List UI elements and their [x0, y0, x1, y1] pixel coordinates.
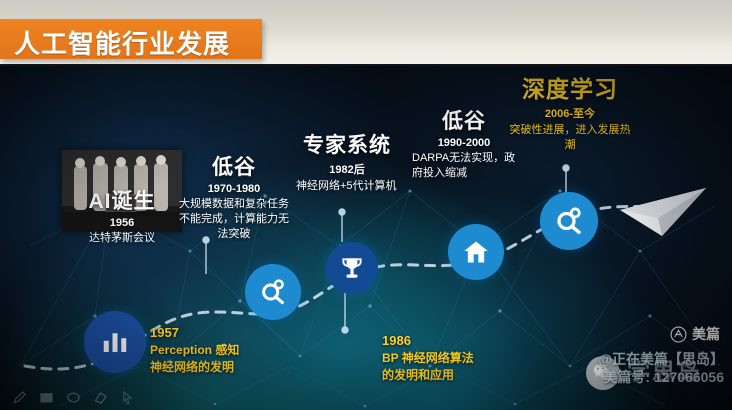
slide-title-banner: 人工智能行业发展 — [0, 19, 262, 59]
watermark-credit: @正在美篇【思岛】 美篇号: 127066056 — [598, 351, 724, 386]
annotation-toolbar[interactable] — [0, 384, 212, 410]
watermark-handle: @正在美篇【思岛】 — [598, 351, 724, 369]
trophy-icon — [339, 255, 365, 281]
ellipse-icon[interactable] — [66, 390, 81, 405]
watermark-account: 美篇号: 127066056 — [598, 369, 724, 387]
node-trophy[interactable] — [326, 242, 378, 294]
paper-plane-icon — [618, 184, 714, 246]
node-home[interactable] — [448, 224, 504, 280]
node-search-gear-1[interactable] — [245, 264, 301, 320]
page-title: 人工智能行业发展 — [14, 24, 230, 61]
pen-icon[interactable] — [12, 390, 27, 405]
tag-line1: Perception 感知 — [150, 342, 239, 359]
meipian-logo-icon — [670, 326, 687, 343]
milestone-year: 1970-1980 — [178, 183, 290, 195]
milestone-desc: 突破性进展，进入发展热潮 — [508, 123, 632, 153]
milestone-heading: AI诞生 — [60, 190, 184, 214]
milestone-heading: 低谷 — [412, 110, 516, 134]
node-bar-chart[interactable] — [84, 311, 146, 373]
tag-bp-1986: 1986 BP 神经网络算法 的发明和应用 — [382, 332, 474, 384]
tag-perception-1957: 1957 Perception 感知 神经网络的发明 — [150, 324, 239, 376]
rectangle-icon[interactable] — [39, 390, 54, 405]
pointer-icon[interactable] — [120, 390, 135, 405]
milestone-desc: 大规模数据和复杂任务不能完成，计算能力无法突破 — [178, 197, 290, 242]
milestone-year: 1982后 — [288, 161, 406, 177]
milestone-second-winter: 低谷 1990-2000 DARPA无法实现，政府投入缩减 — [412, 110, 516, 181]
milestone-heading: 低谷 — [178, 156, 290, 180]
tag-line1: BP 神经网络算法 — [382, 350, 474, 367]
milestone-desc: DARPA无法实现，政府投入缩减 — [412, 151, 516, 181]
search-gear-icon — [259, 278, 287, 306]
milestone-ai-birth: AI诞生 1956 达特茅斯会议 — [60, 190, 184, 246]
meipian-brand-label: 美篇 — [692, 324, 720, 344]
milestone-year: 2006-至今 — [508, 105, 632, 121]
milestone-deep-learning: 深度学习 2006-至今 突破性进展，进入发展热潮 — [508, 76, 632, 153]
slide-canvas: 人工智能行业发展 — [0, 0, 732, 410]
bar-chart-icon — [100, 327, 130, 357]
tag-line2: 的发明和应用 — [382, 367, 474, 384]
tag-line2: 神经网络的发明 — [150, 359, 239, 376]
eraser-icon[interactable] — [93, 390, 108, 405]
node-search-gear-2[interactable] — [540, 192, 598, 250]
milestone-desc: 达特茅斯会议 — [60, 231, 184, 246]
milestone-desc: 神经网络+5代计算机 — [288, 179, 406, 194]
milestone-heading: 深度学习 — [508, 76, 632, 102]
milestone-heading: 专家系统 — [288, 134, 406, 158]
tag-year: 1986 — [382, 332, 474, 350]
milestone-year: 1956 — [60, 217, 184, 229]
milestone-year: 1990-2000 — [412, 137, 516, 149]
meipian-watermark: 美篇 — [670, 324, 720, 344]
dark-background: AI诞生 1956 达特茅斯会议 低谷 1970-1980 大规模数据和复杂任务… — [0, 66, 732, 410]
home-icon — [462, 238, 490, 266]
milestone-expert-systems: 专家系统 1982后 神经网络+5代计算机 — [288, 134, 406, 194]
milestone-first-winter: 低谷 1970-1980 大规模数据和复杂任务不能完成，计算能力无法突破 — [178, 156, 290, 242]
tag-year: 1957 — [150, 324, 239, 342]
search-gear-icon — [554, 206, 584, 236]
